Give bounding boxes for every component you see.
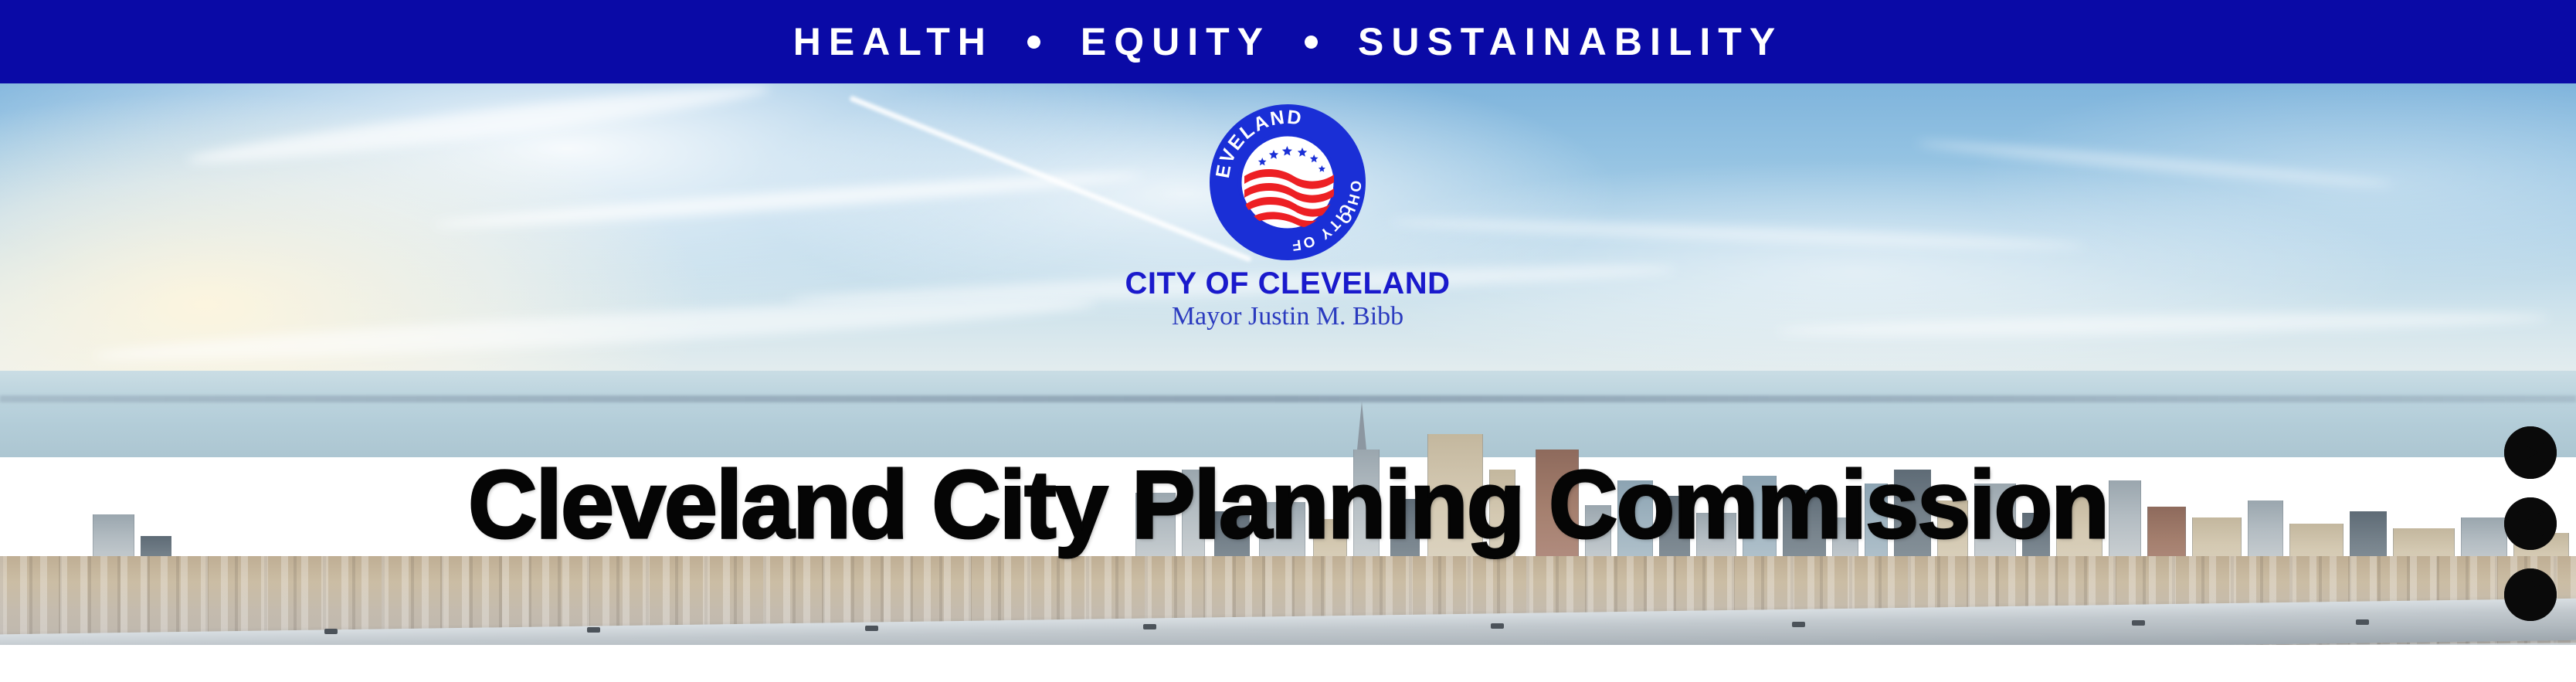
instagram-icon[interactable] — [2504, 497, 2557, 550]
tagline-inner: HEALTH EQUITY SUSTAINABILITY — [793, 22, 1783, 61]
social-media-rail — [2504, 426, 2557, 621]
youtube-icon[interactable] — [2504, 426, 2557, 479]
tagline-word-health: HEALTH — [793, 22, 993, 61]
facebook-icon[interactable] — [2504, 568, 2557, 621]
tagline-word-sustainability: SUSTAINABILITY — [1358, 22, 1783, 61]
city-of-cleveland-seal-icon: CLEVELAND OHIO CITY OF — [1207, 102, 1368, 263]
logo-mayor-name: Mayor Justin M. Bibb — [1110, 301, 1465, 331]
logo-city-name: CITY OF CLEVELAND — [1110, 267, 1465, 300]
city-logo-lockup[interactable]: CLEVELAND OHIO CITY OF — [1110, 102, 1465, 331]
bullet-dot-icon — [1027, 36, 1040, 49]
far-shoreline — [0, 395, 2576, 402]
page-root: HEALTH EQUITY SUSTAINABILITY — [0, 0, 2576, 682]
page-title: Cleveland City Planning Commission — [0, 457, 2576, 553]
tagline-banner: HEALTH EQUITY SUSTAINABILITY — [0, 0, 2576, 83]
tagline-word-equity: EQUITY — [1081, 22, 1271, 61]
bullet-dot-icon — [1305, 36, 1318, 49]
